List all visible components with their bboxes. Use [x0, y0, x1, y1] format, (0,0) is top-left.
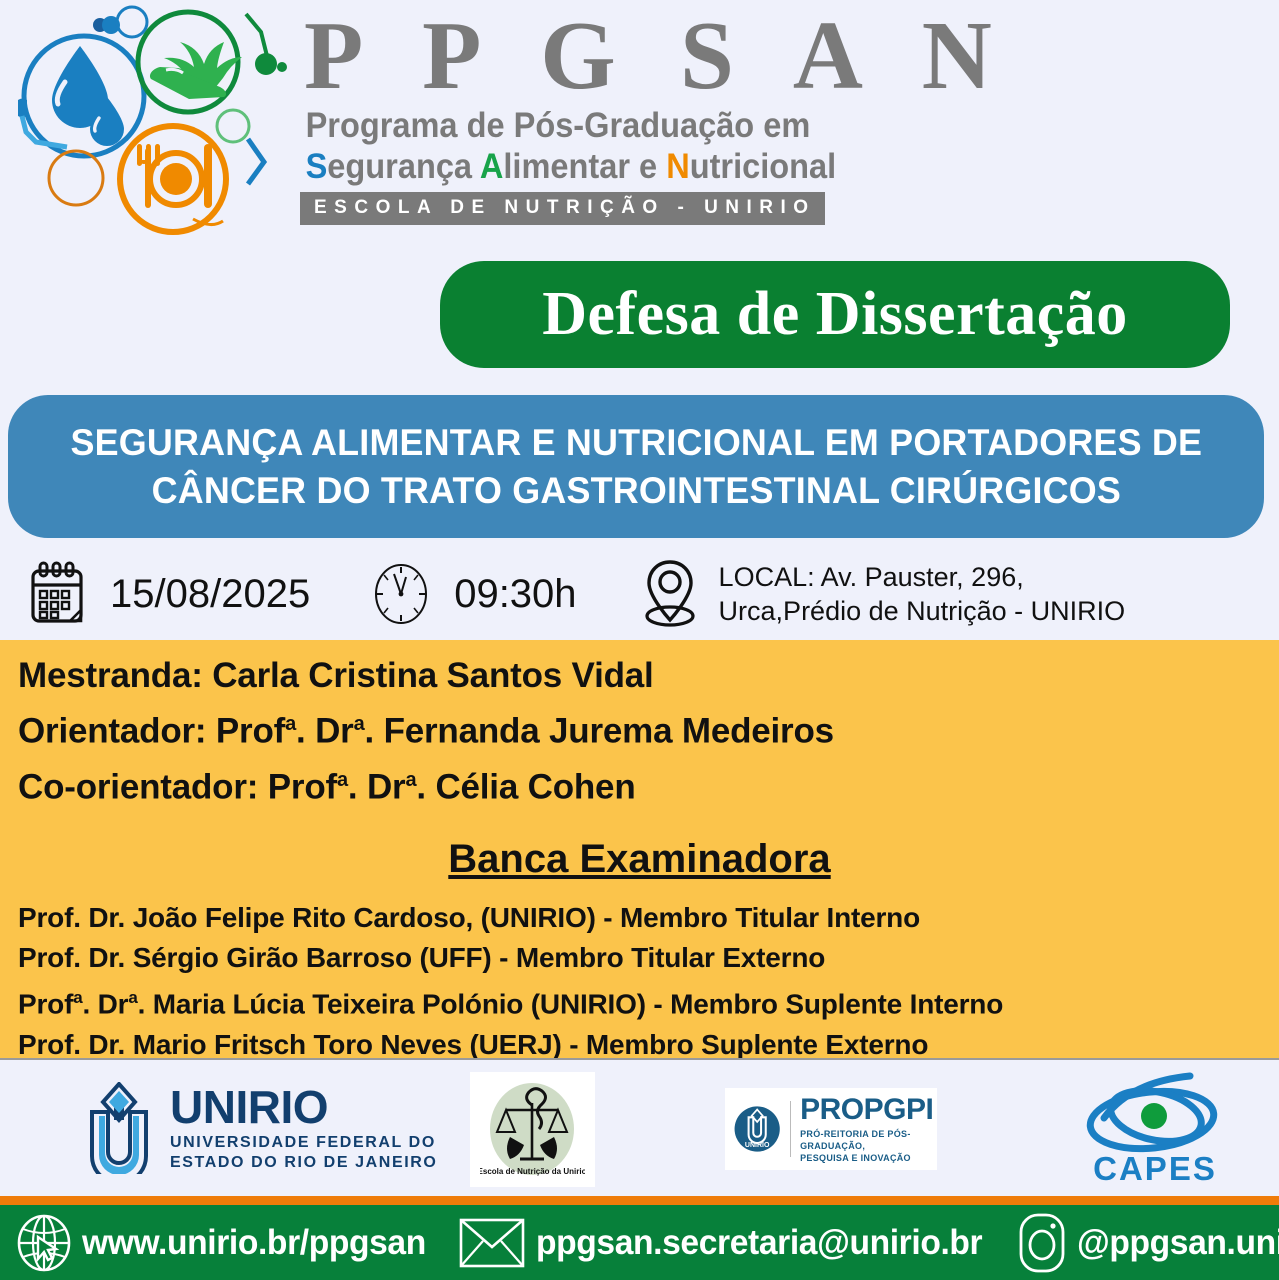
header: P P G S A N Programa de Pós-Graduação em… [0, 0, 1279, 248]
footer-email[interactable]: ppgsan.secretaria@unirio.br [458, 1215, 1001, 1271]
svg-text:UNIRIO: UNIRIO [745, 1142, 770, 1149]
globe-cursor-icon [16, 1213, 72, 1273]
event-type-banner: Defesa de Dissertação [440, 261, 1230, 368]
thesis-title: SEGURANÇA ALIMENTAR E NUTRICIONAL EM POR… [70, 419, 1202, 515]
thesis-title-line1: SEGURANÇA ALIMENTAR E NUTRICIONAL EM POR… [70, 419, 1202, 467]
propgpi-unirio-badge-icon: UNIRIO [733, 1098, 781, 1160]
envelope-icon [458, 1215, 526, 1271]
event-location: LOCAL: Av. Pauster, 296, Urca,Prédio de … [639, 558, 1126, 630]
footer-contact-bar: www.unirio.br/ppgsan ppgsan.secretaria@u… [0, 1205, 1279, 1280]
svg-text:CAPES: CAPES [1093, 1150, 1217, 1187]
propgpi-subtitle-line2: PESQUISA E INOVAÇÃO [800, 1152, 937, 1164]
capes-logo: CAPES [1080, 1068, 1230, 1188]
banca-member: Profa. Dra. Maria Lúcia Teixeira Polónio… [18, 978, 1261, 1024]
unirio-subtitle-line2: ESTADO DO RIO DE JANEIRO [170, 1153, 437, 1173]
event-time-text: 09:30h [454, 572, 576, 617]
propgpi-logo: UNIRIO PROPGPI PRÓ-REITORIA DE PÓS-GRADU… [725, 1088, 937, 1170]
event-time: 09:30h [370, 561, 576, 627]
program-tagline-line1: Programa de Pós-Graduação em [300, 106, 821, 146]
location-line1: LOCAL: Av. Pauster, 296, [719, 560, 1126, 594]
location-line2: Urca,Prédio de Nutrição - UNIRIO [719, 594, 1126, 628]
propgpi-subtitle-line1: PRÓ-REITORIA DE PÓS-GRADUAÇÃO, [800, 1128, 937, 1152]
brand-text-block: P P G S A N Programa de Pós-Graduação em… [300, 6, 860, 236]
unirio-subtitle-line1: UNIVERSIDADE FEDERAL DO [170, 1133, 437, 1153]
event-date-text: 15/08/2025 [110, 572, 310, 617]
clock-icon [370, 561, 432, 627]
orientador-line: Orientador: Profa. Dra. Fernanda Jurema … [18, 700, 1261, 756]
thesis-title-line2: CÂNCER DO TRATO GASTROINTESTINAL CIRÚRGI… [70, 467, 1202, 515]
orange-divider-stripe [0, 1196, 1279, 1205]
sponsor-logos-row: UNIRIO UNIVERSIDADE FEDERAL DO ESTADO DO… [0, 1058, 1279, 1198]
map-pin-icon [639, 558, 701, 630]
ppgsan-logo-icon [8, 4, 298, 239]
event-type-label: Defesa de Dissertação [542, 279, 1128, 350]
svg-text:Escola de Nutrição da Unirio: Escola de Nutrição da Unirio [480, 1167, 585, 1176]
coorientador-line: Co-orientador: Profa. Dra. Célia Cohen [18, 756, 1261, 812]
event-date: 15/08/2025 [26, 561, 310, 627]
calendar-icon [26, 561, 88, 627]
scales-and-asclepius-seal-icon: Escola de Nutrição da Unirio [480, 1077, 585, 1182]
footer-instagram[interactable]: @ppgsan.unirio [1017, 1212, 1279, 1274]
escola-nutricao-logo: Escola de Nutrição da Unirio [470, 1072, 595, 1187]
event-info-row: 15/08/2025 09:30h [0, 548, 1279, 640]
unirio-mark-icon [78, 1082, 160, 1174]
participants-section: Mestranda: Carla Cristina Santos Vidal O… [0, 640, 1279, 1058]
unirio-wordmark: UNIRIO [170, 1084, 437, 1130]
mestranda-line: Mestranda: Carla Cristina Santos Vidal [18, 652, 1261, 700]
capes-mark-icon: CAPES [1080, 1068, 1230, 1188]
footer-email-text: ppgsan.secretaria@unirio.br [536, 1223, 982, 1263]
banca-title: Banca Examinadora [18, 837, 1261, 882]
propgpi-wordmark: PROPGPI [800, 1095, 937, 1125]
banca-member: Prof. Dr. Sérgio Girão Barroso (UFF) - M… [18, 938, 1261, 978]
unirio-logo: UNIRIO UNIVERSIDADE FEDERAL DO ESTADO DO… [78, 1082, 437, 1174]
instagram-icon [1017, 1212, 1067, 1274]
footer-website-text: www.unirio.br/ppgsan [82, 1223, 426, 1263]
school-bar: ESCOLA DE NUTRIÇÃO - UNIRIO [300, 192, 825, 225]
footer-website[interactable]: www.unirio.br/ppgsan [16, 1213, 440, 1273]
footer-instagram-text: @ppgsan.unirio [1077, 1223, 1279, 1263]
event-location-text: LOCAL: Av. Pauster, 296, Urca,Prédio de … [719, 560, 1126, 628]
banca-member: Prof. Dr. João Felipe Rito Cardoso, (UNI… [18, 898, 1261, 938]
program-tagline-line2: Segurança Alimentar e Nutricional [300, 146, 821, 188]
thesis-title-banner: SEGURANÇA ALIMENTAR E NUTRICIONAL EM POR… [8, 395, 1264, 538]
ppgsan-acronym: P P G S A N [300, 6, 860, 106]
banca-member-list: Prof. Dr. João Felipe Rito Cardoso, (UNI… [18, 898, 1261, 1064]
